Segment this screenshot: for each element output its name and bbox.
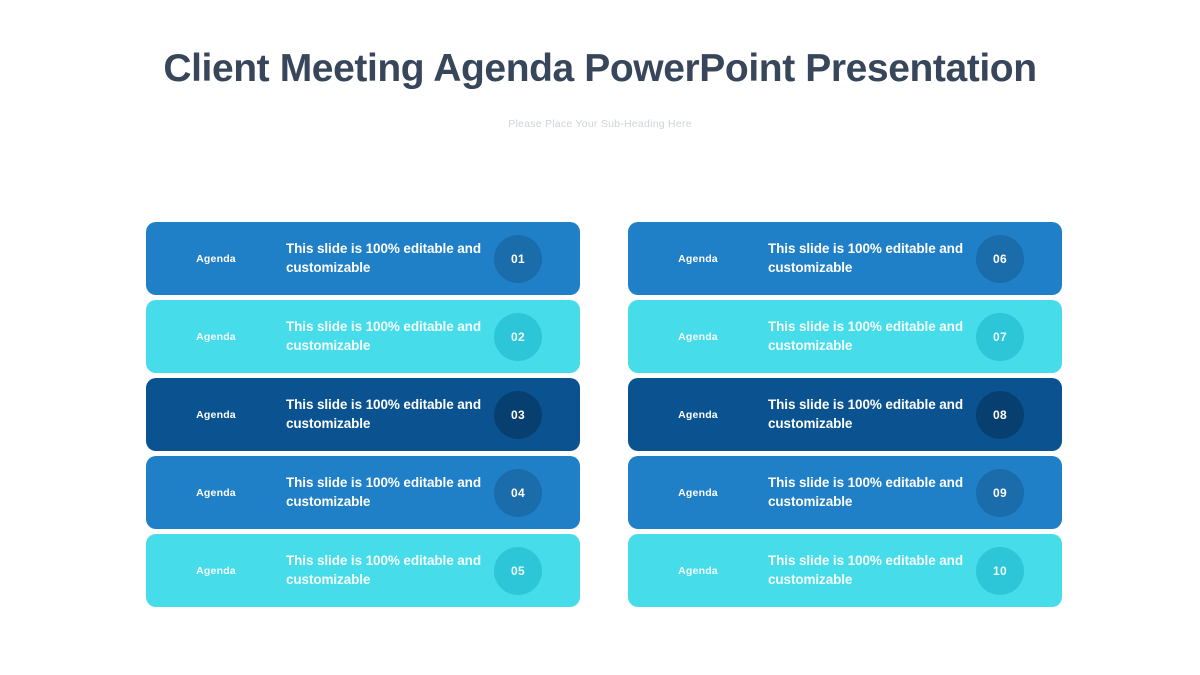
agenda-item[interactable]: Agenda This slide is 100% editable and c…	[628, 456, 1062, 529]
agenda-item-text: This slide is 100% editable and customiz…	[286, 240, 494, 276]
agenda-item[interactable]: Agenda This slide is 100% editable and c…	[628, 534, 1062, 607]
agenda-item-text: This slide is 100% editable and customiz…	[768, 240, 976, 276]
agenda-item-number: 10	[976, 547, 1024, 595]
agenda-item-number: 08	[976, 391, 1024, 439]
agenda-item-number: 01	[494, 235, 542, 283]
agenda-item-text: This slide is 100% editable and customiz…	[286, 396, 494, 432]
agenda-column-left: Agenda This slide is 100% editable and c…	[146, 222, 580, 607]
agenda-item-number: 09	[976, 469, 1024, 517]
agenda-item-label: Agenda	[628, 409, 768, 421]
agenda-item-label: Agenda	[628, 487, 768, 499]
agenda-item[interactable]: Agenda This slide is 100% editable and c…	[146, 378, 580, 451]
agenda-column-right: Agenda This slide is 100% editable and c…	[628, 222, 1062, 607]
agenda-item-label: Agenda	[146, 487, 286, 499]
agenda-item[interactable]: Agenda This slide is 100% editable and c…	[146, 222, 580, 295]
agenda-item-label: Agenda	[146, 331, 286, 343]
agenda-item-label: Agenda	[628, 331, 768, 343]
agenda-item-number: 05	[494, 547, 542, 595]
agenda-item-label: Agenda	[146, 253, 286, 265]
agenda-item[interactable]: Agenda This slide is 100% editable and c…	[146, 300, 580, 373]
agenda-item-label: Agenda	[628, 253, 768, 265]
agenda-item-label: Agenda	[146, 409, 286, 421]
presentation-slide: Client Meeting Agenda PowerPoint Present…	[0, 0, 1200, 675]
slide-header: Client Meeting Agenda PowerPoint Present…	[0, 48, 1200, 130]
agenda-grid: Agenda This slide is 100% editable and c…	[146, 222, 1062, 607]
agenda-item-text: This slide is 100% editable and customiz…	[768, 474, 976, 510]
page-title: Client Meeting Agenda PowerPoint Present…	[0, 48, 1200, 91]
agenda-item-label: Agenda	[628, 565, 768, 577]
agenda-item-text: This slide is 100% editable and customiz…	[286, 474, 494, 510]
agenda-item[interactable]: Agenda This slide is 100% editable and c…	[146, 456, 580, 529]
agenda-item[interactable]: Agenda This slide is 100% editable and c…	[628, 378, 1062, 451]
agenda-item[interactable]: Agenda This slide is 100% editable and c…	[628, 300, 1062, 373]
page-subtitle: Please Place Your Sub-Heading Here	[0, 118, 1200, 130]
agenda-item-number: 02	[494, 313, 542, 361]
agenda-item-text: This slide is 100% editable and customiz…	[286, 318, 494, 354]
agenda-item-number: 07	[976, 313, 1024, 361]
agenda-item-number: 04	[494, 469, 542, 517]
agenda-item-text: This slide is 100% editable and customiz…	[768, 318, 976, 354]
agenda-item-text: This slide is 100% editable and customiz…	[768, 396, 976, 432]
agenda-item[interactable]: Agenda This slide is 100% editable and c…	[628, 222, 1062, 295]
agenda-item[interactable]: Agenda This slide is 100% editable and c…	[146, 534, 580, 607]
agenda-item-text: This slide is 100% editable and customiz…	[286, 552, 494, 588]
agenda-item-number: 06	[976, 235, 1024, 283]
agenda-item-number: 03	[494, 391, 542, 439]
agenda-item-text: This slide is 100% editable and customiz…	[768, 552, 976, 588]
agenda-item-label: Agenda	[146, 565, 286, 577]
